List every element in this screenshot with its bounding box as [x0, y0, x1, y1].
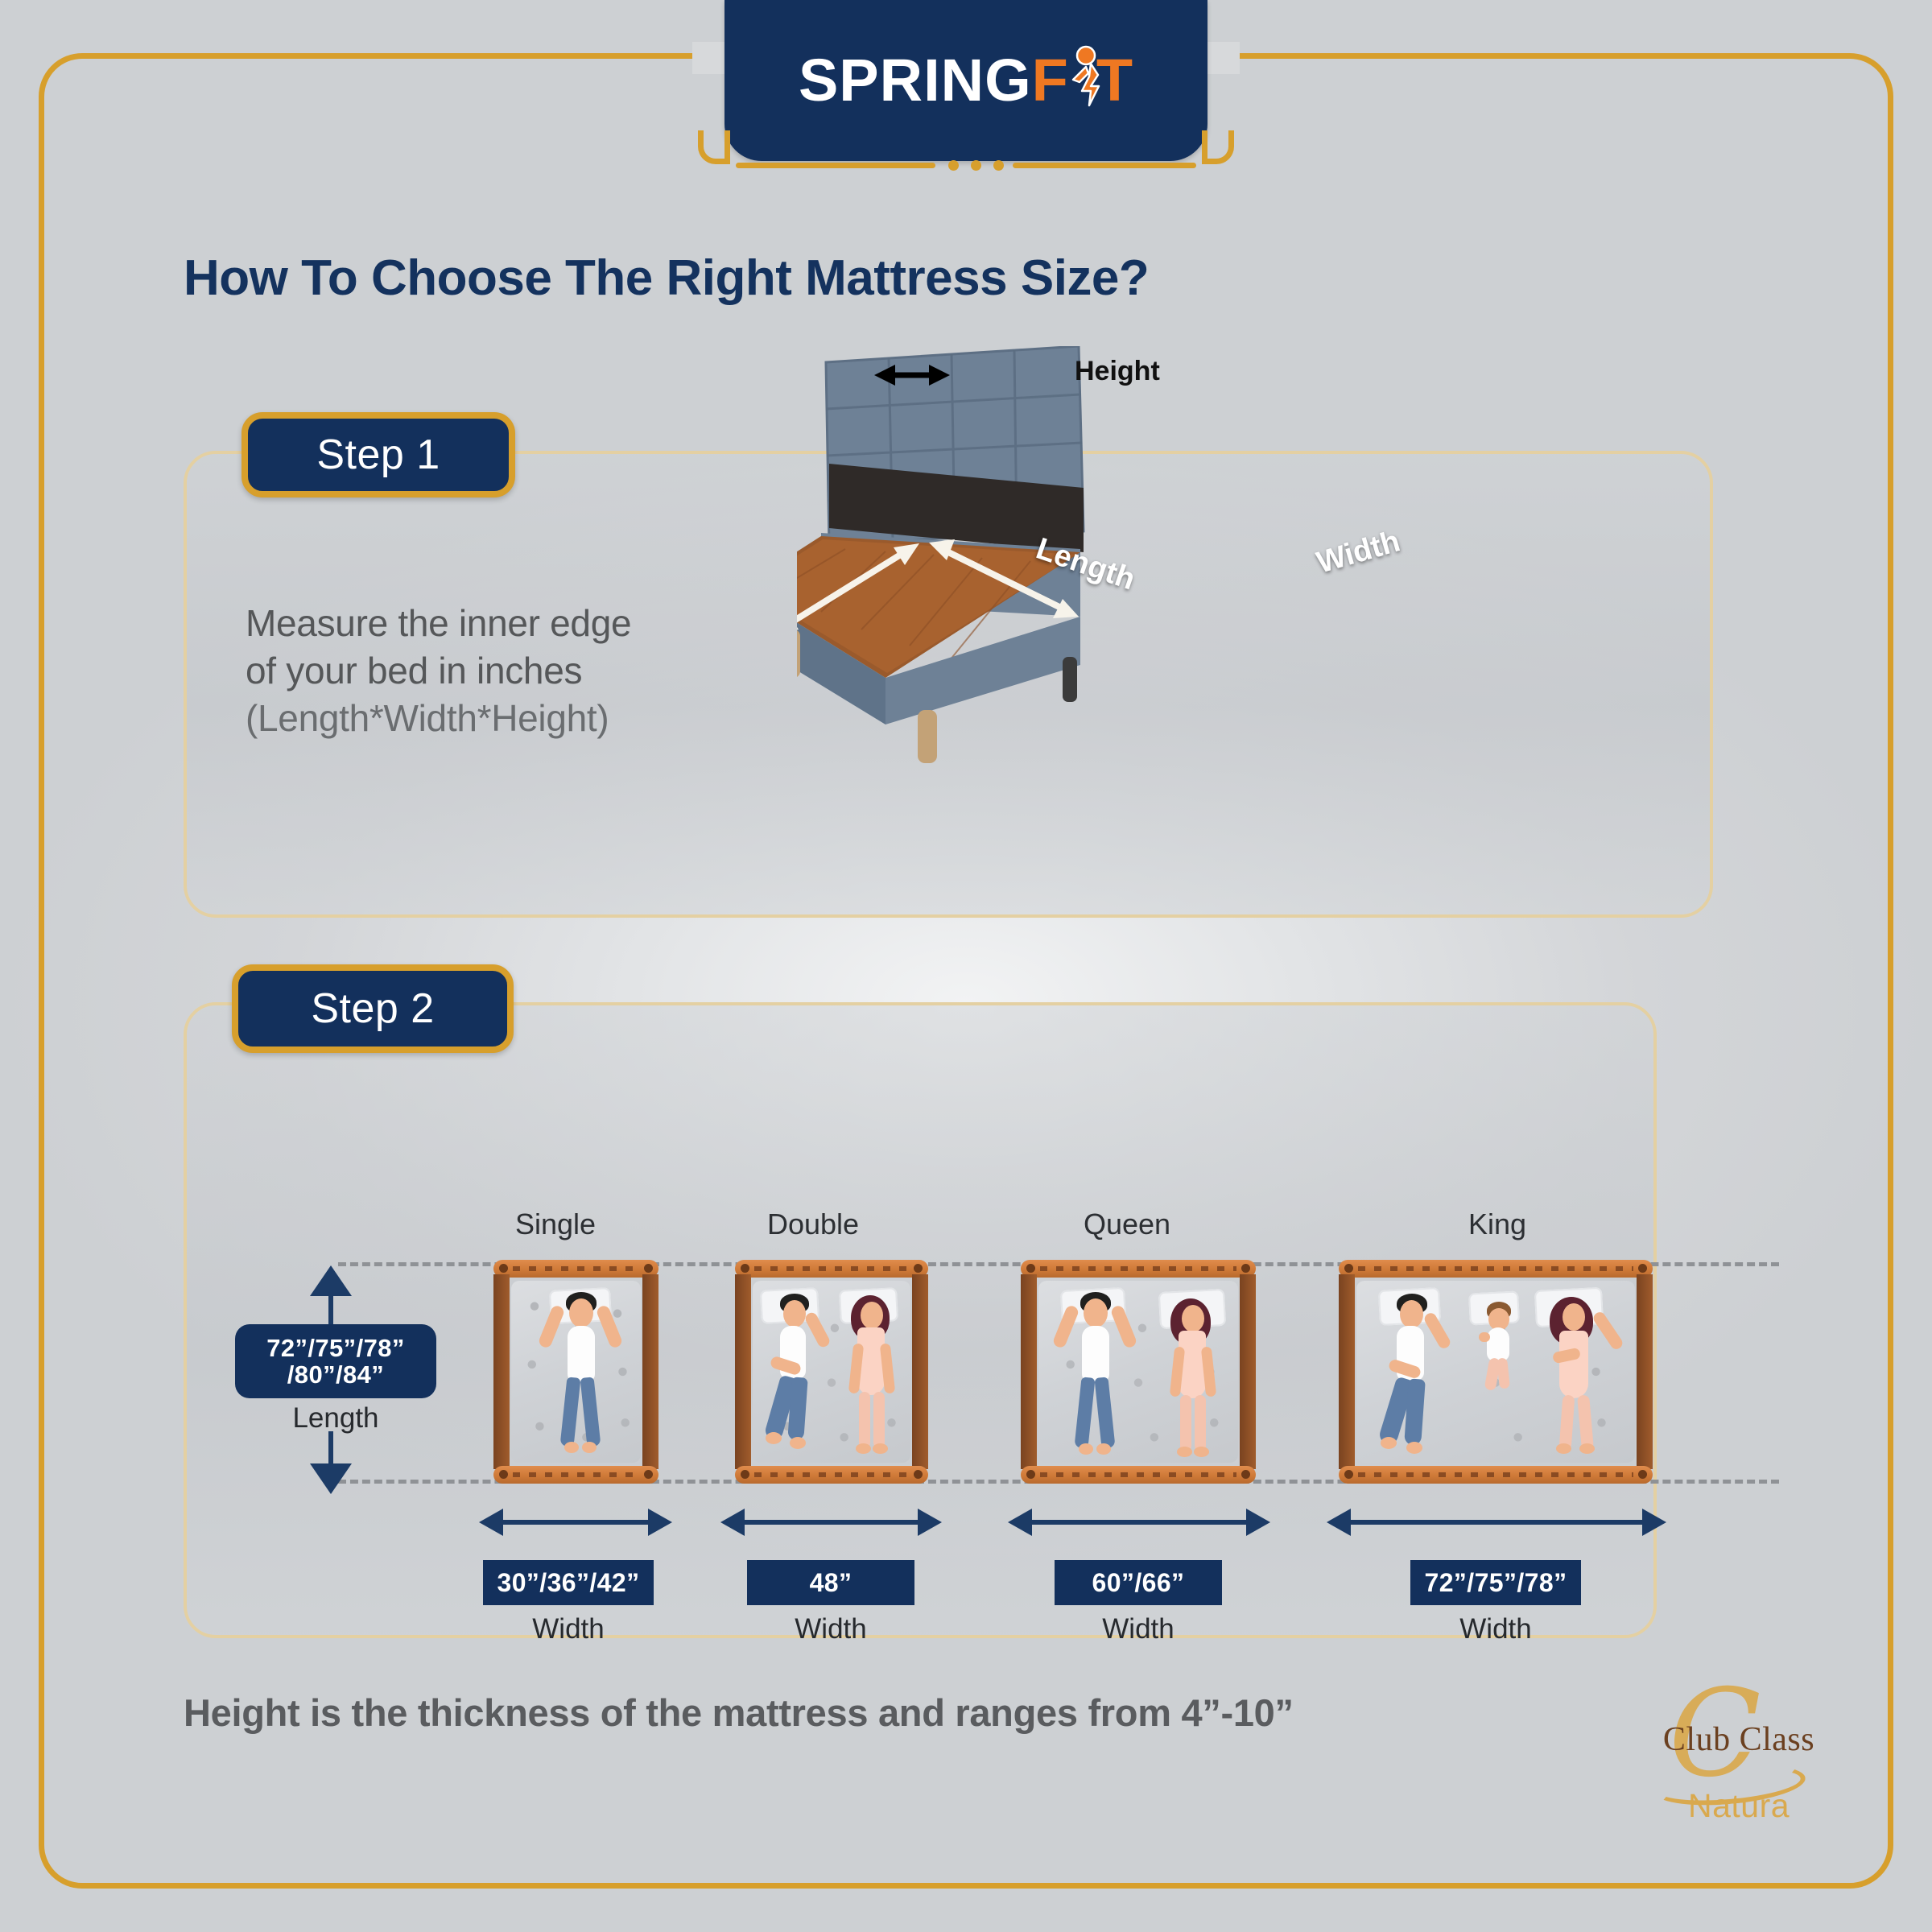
page-title: How To Choose The Right Mattress Size?: [184, 250, 1149, 307]
width-axis-label-king: Width: [1410, 1613, 1581, 1645]
length-axis-label: Length: [235, 1402, 436, 1435]
mattress-surface: [1356, 1281, 1635, 1463]
bed-illustration: Height Length Width: [797, 346, 1699, 926]
footer-note: Height is the thickness of the mattress …: [184, 1690, 1294, 1735]
club-class-sub: Natura: [1638, 1787, 1839, 1825]
sleeper-baby: [1476, 1302, 1522, 1398]
mattress-label-king: King: [1385, 1207, 1610, 1241]
length-value-line-2: /80”/84”: [287, 1361, 384, 1388]
width-value-double: 48”: [747, 1560, 914, 1605]
step-1-line-2: of your bed in inches: [246, 647, 631, 695]
logo-text-spring: SPRING: [799, 51, 1032, 110]
mattress-label-queen: Queen: [1014, 1207, 1240, 1241]
sleeper-woman: [840, 1290, 904, 1455]
bed-side-left: [493, 1274, 510, 1469]
logo-wordmark: SPRINGF T: [799, 49, 1133, 112]
page-title-regular: How To Choose The: [184, 250, 667, 306]
mattress-surface: [753, 1281, 910, 1463]
sleeper-man: [548, 1287, 613, 1456]
club-class-name: Club Class: [1638, 1720, 1839, 1759]
length-value-line-1: 72”/75”/78”: [266, 1335, 405, 1361]
step-1-line-1: Measure the inner edge: [246, 600, 631, 647]
step-1-badge: Step 1: [242, 412, 515, 497]
bed-side-left: [735, 1274, 751, 1469]
mattress-card-double: [735, 1260, 928, 1484]
width-arrow-double: [745, 1520, 918, 1525]
sleeper-man: [1061, 1287, 1129, 1458]
bed-side-left: [1021, 1274, 1037, 1469]
page-title-bold: Right Mattress Size?: [667, 250, 1150, 306]
bed-rail-bottom: [493, 1466, 658, 1484]
width-arrow-king: [1351, 1520, 1642, 1525]
bed-rail-bottom: [735, 1466, 928, 1484]
bed-rail-bottom: [1339, 1466, 1653, 1484]
logo-underline-ornament: [736, 163, 1196, 168]
bed-rail-bottom: [1021, 1466, 1256, 1484]
bed-side-left: [1339, 1274, 1355, 1469]
width-axis-label-queen: Width: [1055, 1613, 1222, 1645]
bed-label-height: Height: [1075, 356, 1160, 387]
sleeper-woman: [1542, 1290, 1612, 1456]
width-value-queen: 60”/66”: [1055, 1560, 1222, 1605]
mattress-card-king: [1339, 1260, 1653, 1484]
mattress-surface: [511, 1281, 641, 1463]
bed-rail-top: [1021, 1260, 1256, 1278]
infographic-page: SPRINGF T How To Choose The Right Mattre…: [0, 0, 1932, 1932]
sleeper-woman: [1161, 1292, 1225, 1457]
bed-side-right: [1240, 1274, 1256, 1469]
length-arrow-shaft-bottom: [328, 1431, 333, 1465]
length-arrow-head-down: [310, 1463, 352, 1494]
bed-side-right: [1637, 1274, 1653, 1469]
width-axis-label-double: Width: [747, 1613, 914, 1645]
sleeper-man: [762, 1290, 827, 1451]
step-1-instruction: Measure the inner edge of your bed in in…: [246, 600, 631, 742]
runner-icon: [1067, 49, 1099, 112]
sleeper-man: [1379, 1290, 1445, 1458]
step-2-badge: Step 2: [232, 964, 514, 1053]
bed-side-right: [642, 1274, 658, 1469]
bed-rail-top: [1339, 1260, 1653, 1278]
width-value-king: 72”/75”/78”: [1410, 1560, 1581, 1605]
bed-rail-top: [493, 1260, 658, 1278]
brand-logo: SPRINGF T: [724, 0, 1207, 185]
length-value-badge: 72”/75”/78” /80”/84”: [235, 1324, 436, 1398]
bed-rail-top: [735, 1260, 928, 1278]
width-arrow-queen: [1032, 1520, 1246, 1525]
bed-side-right: [912, 1274, 928, 1469]
mattress-card-single: [493, 1260, 658, 1484]
mattress-label-double: Double: [716, 1207, 910, 1241]
mattress-card-queen: [1021, 1260, 1256, 1484]
step-1-line-3: (Length*Width*Height): [246, 695, 631, 742]
mattress-label-single: Single: [459, 1207, 652, 1241]
length-arrow-head-up: [310, 1265, 352, 1296]
width-value-single: 30”/36”/42”: [483, 1560, 654, 1605]
logo-card: SPRINGF T: [724, 0, 1207, 161]
club-class-natura-logo: C Club Class Natura: [1638, 1678, 1839, 1839]
mattress-surface: [1038, 1281, 1238, 1463]
width-axis-label-single: Width: [483, 1613, 654, 1645]
width-arrow-single: [503, 1520, 648, 1525]
